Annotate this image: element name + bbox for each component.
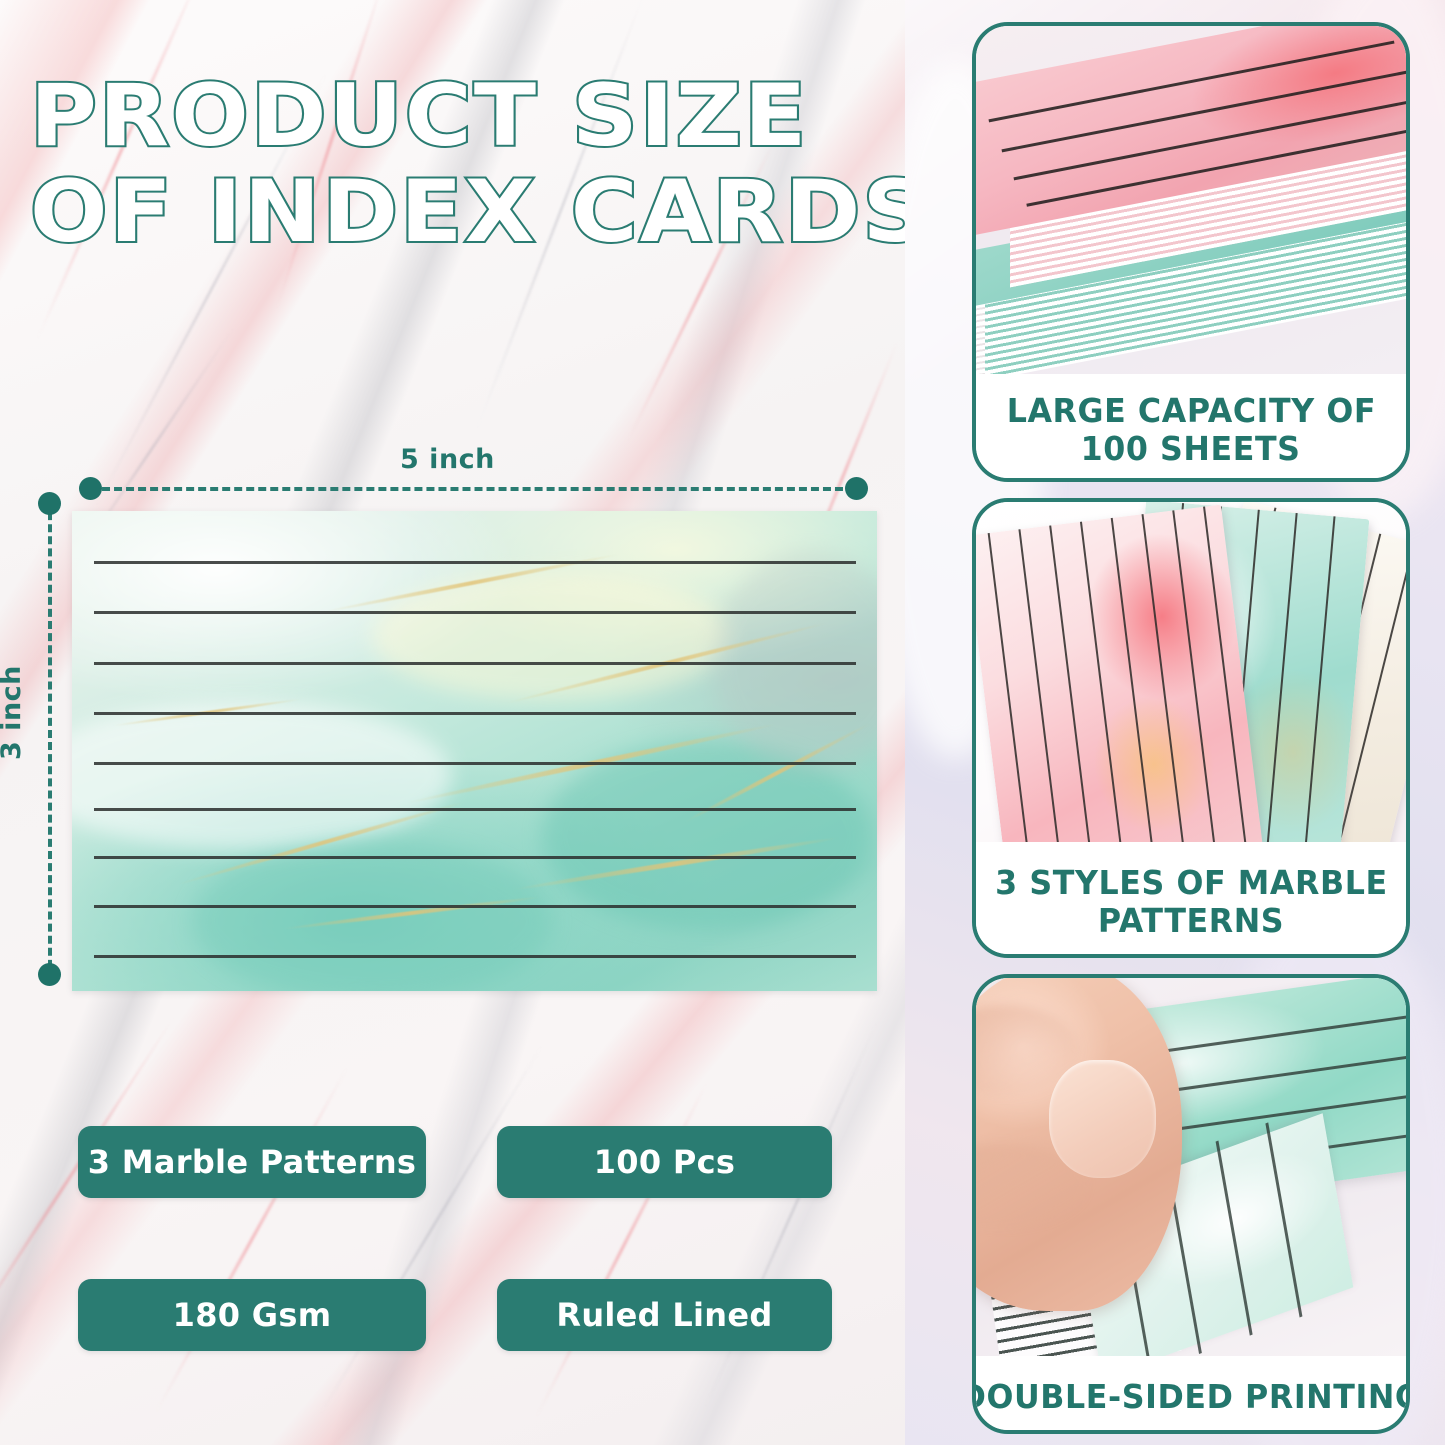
- panel-caption-double-sided-line-1: DOUBLE-SIDED PRINTING: [972, 1378, 1410, 1416]
- index-card-preview: [72, 511, 877, 991]
- panel-caption-patterns-line-1: 3 STYLES OF MARBLE: [995, 864, 1388, 902]
- thumbnail: [1049, 1060, 1156, 1178]
- three-fanned-marble-cards-photo: [976, 502, 1406, 842]
- hand-thumb: [976, 978, 1182, 1311]
- panel-caption-capacity-line-1: LARGE CAPACITY OF: [1006, 392, 1375, 430]
- page-title-line-1: PRODUCT SIZE: [30, 68, 905, 164]
- panel-caption-patterns: 3 STYLES OF MARBLE PATTERNS: [976, 850, 1406, 954]
- badge-paper-weight[interactable]: 180 Gsm: [78, 1279, 426, 1351]
- panel-caption-capacity-line-2: 100 SHEETS: [1081, 430, 1301, 468]
- panel-caption-double-sided: DOUBLE-SIDED PRINTING: [976, 1364, 1406, 1430]
- width-dimension-end-dot: [845, 477, 868, 500]
- hand-lifting-card-photo: [976, 978, 1406, 1356]
- infographic-canvas: PRODUCT SIZE OF INDEX CARDS 5 inch 3 inc…: [0, 0, 1445, 1445]
- feature-panel-patterns[interactable]: 3 STYLES OF MARBLE PATTERNS: [972, 498, 1410, 958]
- width-dimension-line: [90, 487, 855, 491]
- panel-caption-capacity: LARGE CAPACITY OF 100 SHEETS: [976, 382, 1406, 478]
- height-dimension-end-dot: [38, 963, 61, 986]
- height-dimension-start-dot: [38, 492, 61, 515]
- height-dimension-line: [48, 500, 52, 980]
- width-dimension-label: 5 inch: [400, 444, 495, 475]
- left-panel: PRODUCT SIZE OF INDEX CARDS 5 inch 3 inc…: [0, 0, 905, 1445]
- width-dimension-start-dot: [79, 477, 102, 500]
- height-dimension-label: 3 inch: [0, 665, 27, 760]
- feature-panel-capacity[interactable]: LARGE CAPACITY OF 100 SHEETS: [972, 22, 1410, 482]
- badge-quantity[interactable]: 100 Pcs: [497, 1126, 832, 1198]
- badge-marble-patterns[interactable]: 3 Marble Patterns: [78, 1126, 426, 1198]
- panel-caption-patterns-line-2: PATTERNS: [1098, 902, 1284, 940]
- badge-ruled-lined[interactable]: Ruled Lined: [497, 1279, 832, 1351]
- card-sample-pink: [976, 505, 1263, 842]
- feature-panel-double-sided[interactable]: DOUBLE-SIDED PRINTING: [972, 974, 1410, 1434]
- stack-ruled-lines: [976, 26, 1406, 374]
- stacked-cards-photo: [976, 26, 1406, 374]
- page-title: PRODUCT SIZE OF INDEX CARDS: [30, 68, 880, 260]
- page-title-line-2: OF INDEX CARDS: [30, 164, 905, 260]
